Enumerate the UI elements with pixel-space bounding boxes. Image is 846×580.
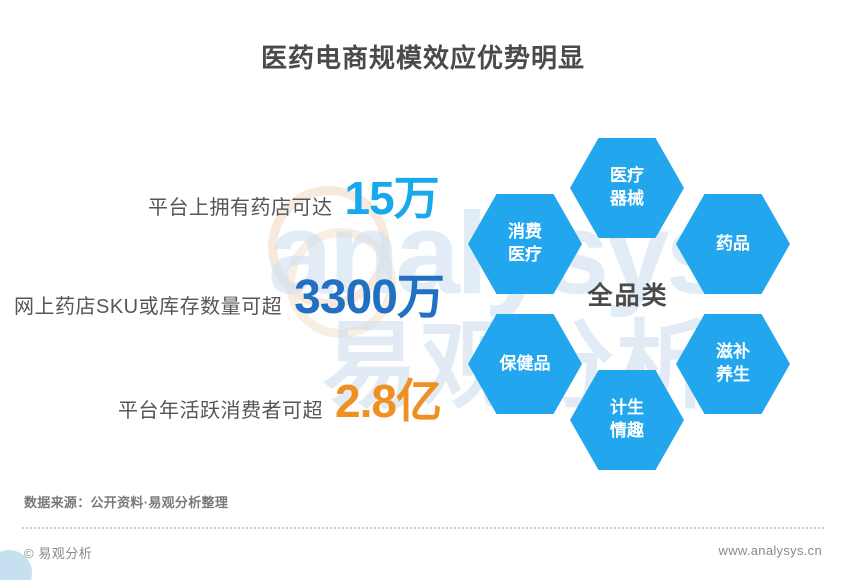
hexagon-label-line2: 器械 [610,188,644,211]
page-title: 医药电商规模效应优势明显 [0,38,846,75]
hexagon-label-line1: 保健品 [500,353,551,376]
stat-value: 3300万 [294,274,444,322]
hexagon-nourishing-health[interactable]: 滋补 养生 [676,314,790,414]
footer-copyright: © 易观分析 [24,543,92,562]
stat-value: 2.8亿 [335,378,441,424]
infographic-canvas: analysys 易观分析 医药电商规模效应优势明显 平台上拥有药店可达 15万… [0,0,846,580]
hexagon-label-line2: 情趣 [610,420,644,443]
hexagon-cluster-center-label: 全品类 [548,268,708,320]
hexagon-label-line2: 医疗 [508,244,542,267]
data-source-note: 数据来源：公开资料·易观分析整理 [24,492,228,511]
hexagon-health-products[interactable]: 保健品 [468,314,582,414]
hexagon-medical-device[interactable]: 医疗 器械 [570,138,684,238]
stat-label: 平台年活跃消费者可超 [118,394,323,423]
stat-row: 网上药店SKU或库存数量可超 3300万 [14,274,444,322]
hexagon-family-planning[interactable]: 计生 情趣 [570,370,684,470]
hexagon-label-line1: 滋补 [716,341,750,364]
stat-label: 网上药店SKU或库存数量可超 [14,290,282,319]
hexagon-label-line1: 药品 [716,233,750,256]
category-hexagon-cluster: 医疗 器械 药品 滋补 养生 计生 情趣 保健品 消费 医疗 全品类 [470,128,816,464]
footer-website[interactable]: www.analysys.cn [719,543,822,558]
stat-row: 平台上拥有药店可达 15万 [148,175,439,221]
hexagon-label-line1: 消费 [508,221,542,244]
stat-row: 平台年活跃消费者可超 2.8亿 [118,378,441,424]
hexagon-label-line1: 医疗 [610,165,644,188]
hexagon-label-line1: 计生 [610,397,644,420]
stat-label: 平台上拥有药店可达 [148,191,333,220]
footer-divider [22,527,824,529]
stat-value: 15万 [345,175,439,221]
hexagon-label-line2: 养生 [716,364,750,387]
